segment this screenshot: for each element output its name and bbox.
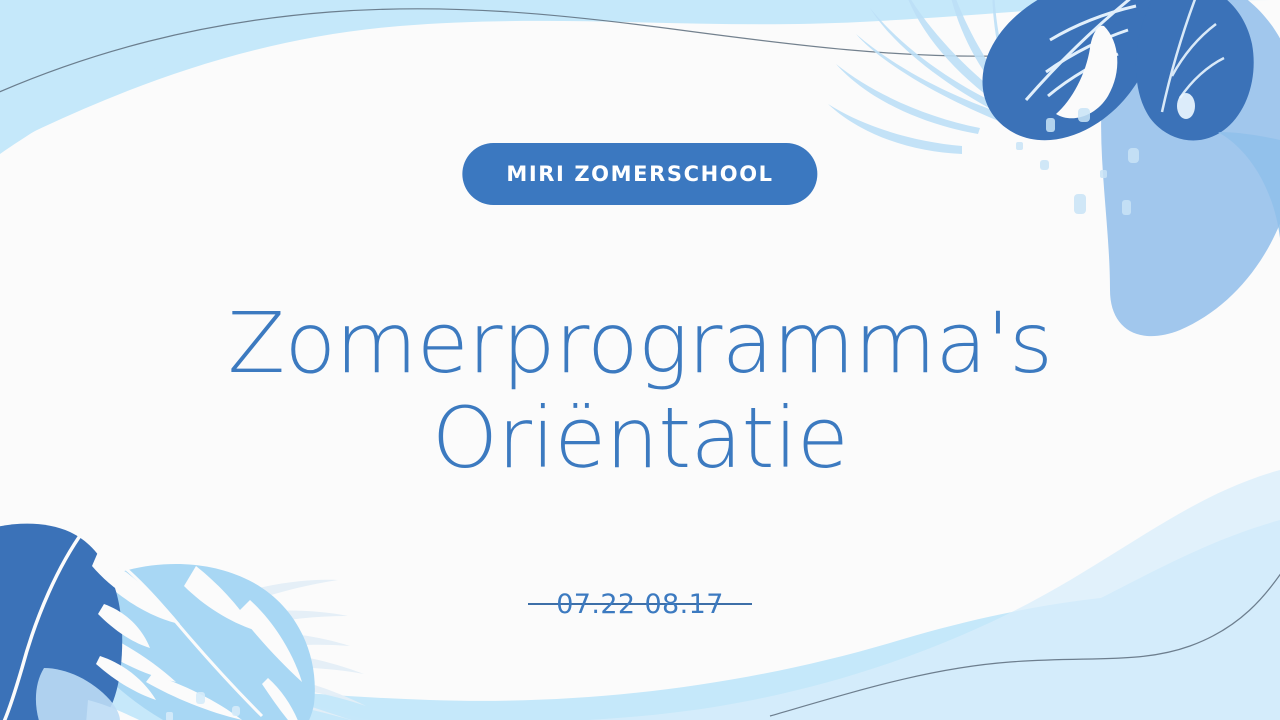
slide-content: MIRI ZOMERSCHOOL Zomerprogramma's Oriënt… [0, 0, 1280, 720]
page-title-line-2: Oriëntatie [0, 391, 1280, 486]
page-title: Zomerprogramma's Oriëntatie [0, 296, 1280, 486]
page-title-line-1: Zomerprogramma's [0, 296, 1280, 391]
date-range-label: 07.22 08.17 [556, 591, 724, 618]
slide-canvas: MIRI ZOMERSCHOOL Zomerprogramma's Oriënt… [0, 0, 1280, 720]
eyebrow-badge-label: MIRI ZOMERSCHOOL [506, 164, 773, 185]
date-range: 07.22 08.17 [528, 582, 752, 626]
eyebrow-badge: MIRI ZOMERSCHOOL [462, 143, 817, 205]
